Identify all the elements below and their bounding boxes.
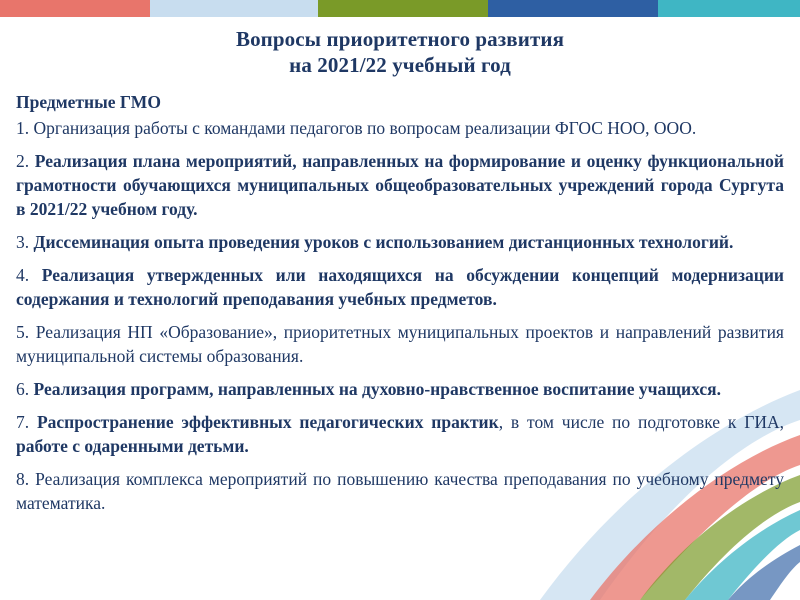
list-item: 7. Распространение эффективных педагогич… <box>16 410 784 458</box>
list-item-text: Реализация комплекса мероприятий по повы… <box>16 469 784 513</box>
list-item: 2. Реализация плана мероприятий, направл… <box>16 149 784 221</box>
list-item-number: 5. <box>16 322 29 342</box>
title-line-1: Вопросы приоритетного развития <box>0 26 800 52</box>
list-item: 1. Организация работы с командами педаго… <box>16 116 784 140</box>
topbar-segment-light-blue <box>150 0 318 17</box>
list-item-text: Реализация плана мероприятий, направленн… <box>16 151 784 219</box>
title-line-2: на 2021/22 учебный год <box>0 52 800 78</box>
list-item-text: Организация работы с командами педагогов… <box>29 118 696 138</box>
topbar-segment-dark-blue <box>488 0 658 17</box>
list-item: 5. Реализация НП «Образование», приорите… <box>16 320 784 368</box>
list-item: 4. Реализация утвержденных или находящих… <box>16 263 784 311</box>
list-item-number: 2. <box>16 151 29 171</box>
topbar-segment-teal <box>658 0 800 17</box>
page-title: Вопросы приоритетного развития на 2021/2… <box>0 26 800 78</box>
list-item: 6. Реализация программ, направленных на … <box>16 377 784 401</box>
list-item-number: 8. <box>16 469 29 489</box>
list-item-number: 4. <box>16 265 29 285</box>
section-heading: Предметные ГМО <box>16 90 784 114</box>
list-item-number: 3. <box>16 232 29 252</box>
list-item: 3. Диссеминация опыта проведения уроков … <box>16 230 784 254</box>
numbered-list: 1. Организация работы с командами педаго… <box>16 116 784 515</box>
list-item-number: 6. <box>16 379 29 399</box>
slide: Вопросы приоритетного развития на 2021/2… <box>0 0 800 600</box>
top-color-bar <box>0 0 800 17</box>
topbar-segment-salmon <box>0 0 150 17</box>
list-item: 8. Реализация комплекса мероприятий по п… <box>16 467 784 515</box>
list-item-text: Реализация утвержденных или находящихся … <box>16 265 784 309</box>
topbar-segment-olive-green <box>318 0 488 17</box>
list-item-text: работе с одаренными детьми. <box>16 436 249 456</box>
body-content: Предметные ГМО 1. Организация работы с к… <box>16 90 784 524</box>
list-item-text: Реализация программ, направленных на дух… <box>29 379 721 399</box>
list-item-text: Распространение эффективных педагогическ… <box>29 412 499 432</box>
list-item-text: Реализация НП «Образование», приоритетны… <box>29 322 600 342</box>
list-item-number: 1. <box>16 118 29 138</box>
list-item-number: 7. <box>16 412 29 432</box>
list-item-text: Диссеминация опыта проведения уроков с и… <box>29 232 733 252</box>
list-item-text: , в том числе по подготовке к ГИА, <box>499 412 784 432</box>
